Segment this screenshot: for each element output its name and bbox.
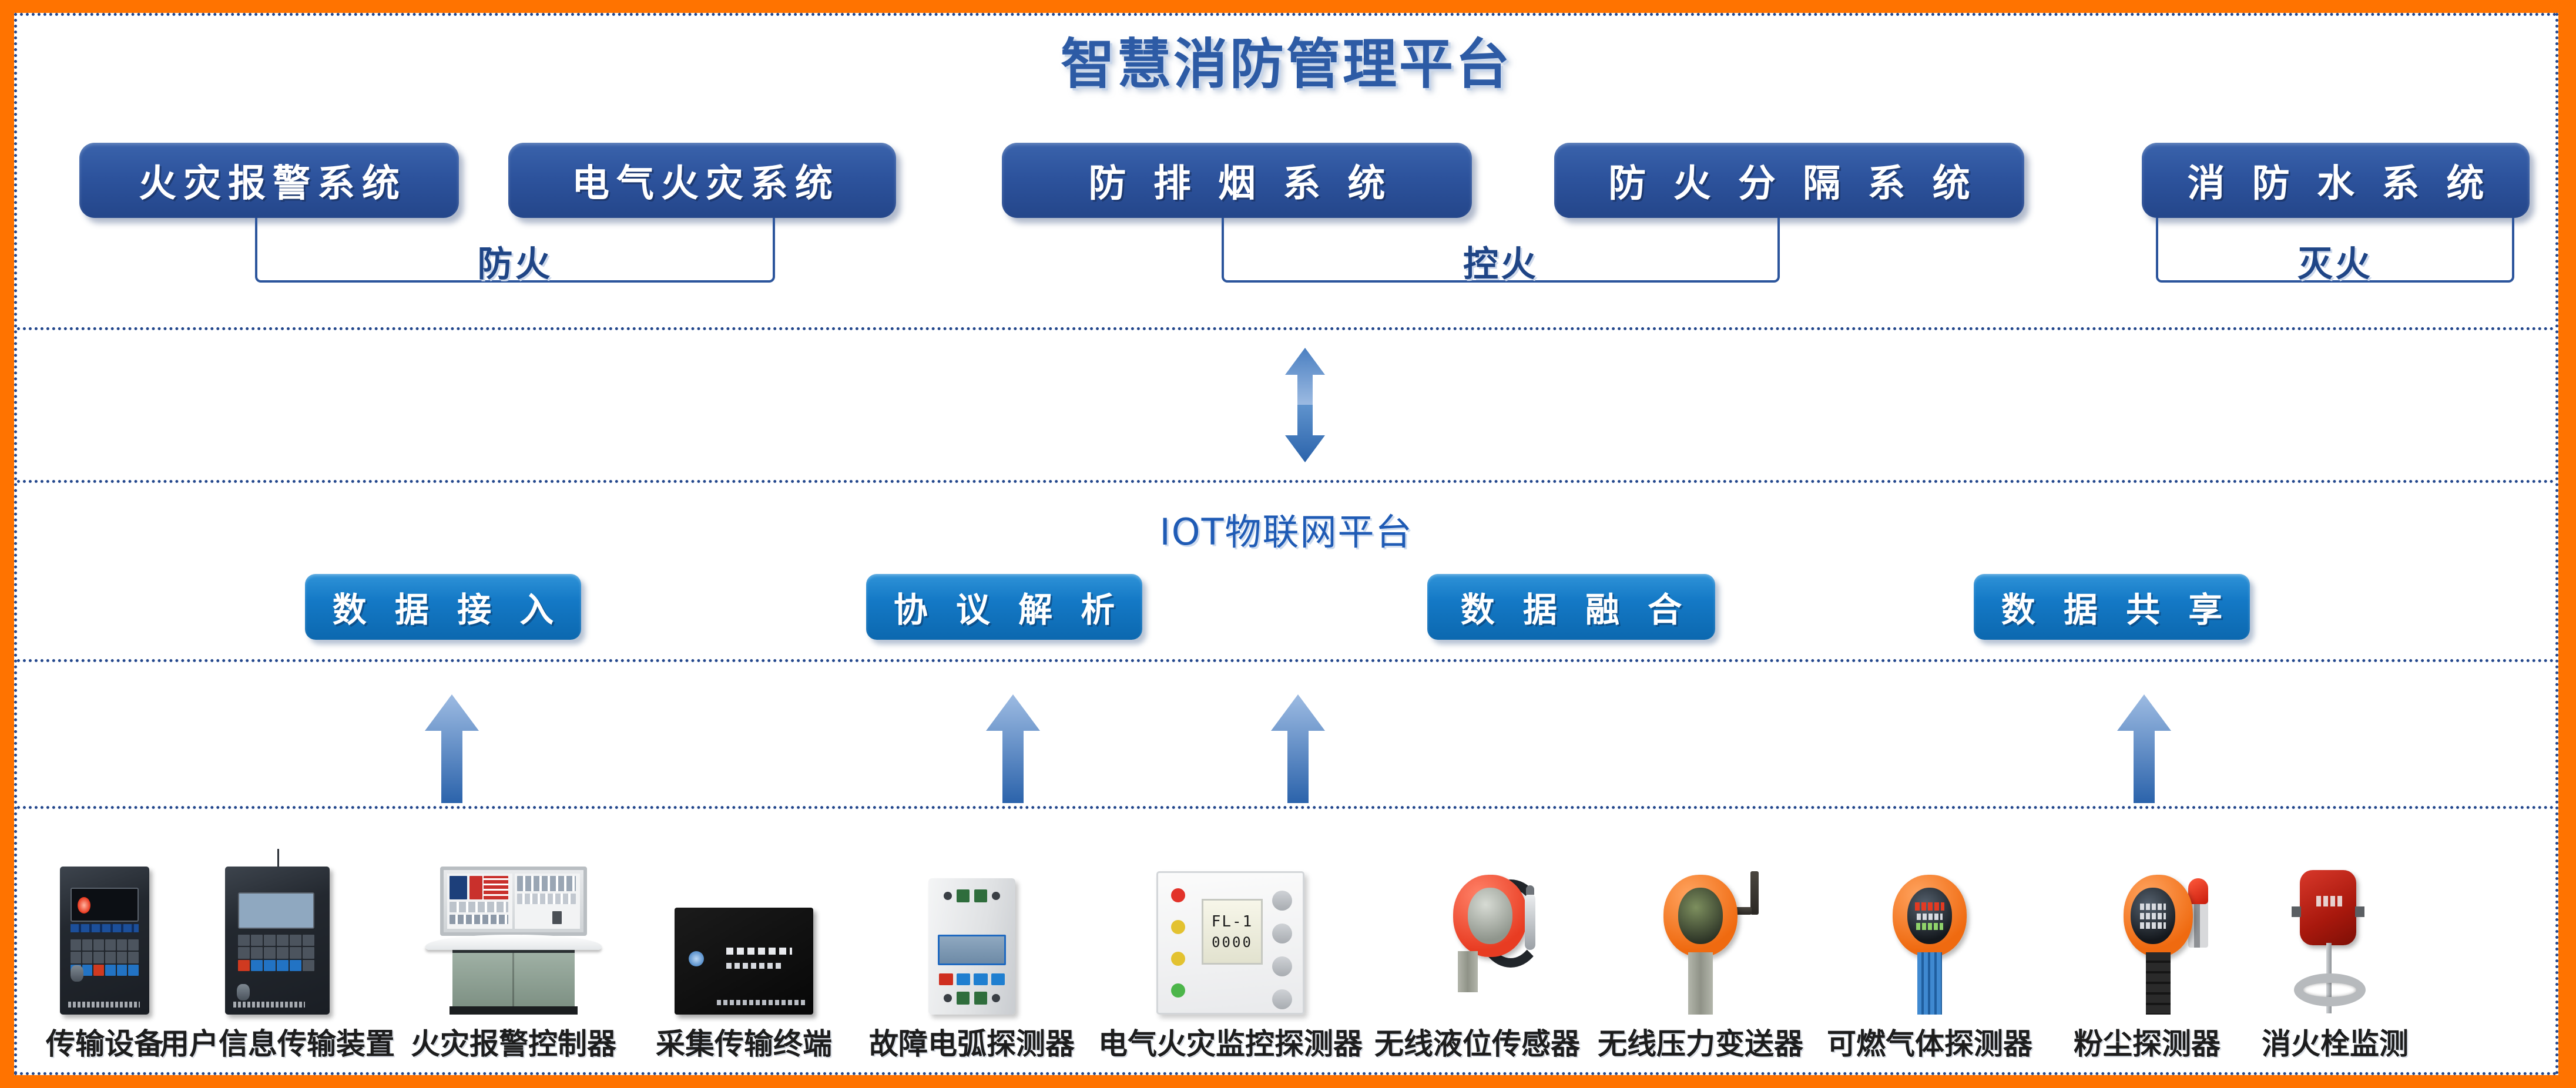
device-item[interactable]: 消火栓监测 [2256, 810, 2414, 1063]
system-box-label: 电气火灾系统 [565, 153, 840, 207]
device-item[interactable]: 粉尘探测器 [2062, 810, 2232, 1063]
band-separator-2 [17, 480, 2555, 483]
detector-screen-line1: FL-1 [1212, 913, 1253, 931]
combustible-gas-detector-icon [1833, 855, 2027, 1015]
device-label: 无线压力变送器 [1598, 1020, 1803, 1063]
dust-detector-icon [2062, 855, 2232, 1015]
group-label: 控火 [1224, 236, 1777, 287]
device-item[interactable]: 采集传输终端 [647, 810, 841, 1063]
electrical-fire-monitoring-detector-icon: FL-1 0000 [1104, 855, 1357, 1015]
band-separator-3 [17, 659, 2555, 662]
device-label: 故障电弧探测器 [869, 1020, 1075, 1063]
group-label: 灭火 [2158, 236, 2512, 287]
device-label: 电气火灾监控探测器 [1098, 1020, 1363, 1063]
fire-alarm-controller-icon [417, 855, 611, 1015]
group-bracket-fire-control: 控火 [1222, 218, 1780, 283]
device-label: 用户信息传输装置 [160, 1020, 395, 1063]
system-box-fire-water[interactable]: 消 防 水 系 统 [2142, 143, 2530, 218]
group-bracket-fire-prevention: 防火 [255, 218, 775, 283]
poster-inner: 智慧消防管理平台 火灾报警系统 电气火灾系统 防 排 烟 系 统 防 火 分 隔… [14, 13, 2558, 1075]
up-arrow-icon [1269, 694, 1327, 803]
iot-function-data-sharing[interactable]: 数 据 共 享 [1974, 574, 2250, 640]
device-item[interactable]: 火灾报警控制器 [417, 810, 611, 1063]
band-separator-4 [17, 806, 2555, 809]
detector-screen-line2: 0000 [1212, 934, 1253, 951]
iot-function-data-access[interactable]: 数 据 接 入 [305, 574, 581, 640]
iot-function-protocol-parsing[interactable]: 协 议 解 析 [866, 574, 1142, 640]
device-label: 无线液位传感器 [1374, 1020, 1580, 1063]
group-bracket-fire-extinguish: 灭火 [2156, 218, 2514, 283]
device-label: 消火栓监测 [2262, 1020, 2409, 1063]
device-strip: 传输设备 用户 [17, 810, 2555, 1063]
device-item[interactable]: FL-1 0000 电气火灾监控探测器 [1104, 810, 1357, 1063]
iot-function-label: 数 据 接 入 [324, 582, 562, 632]
system-box-fire-partition[interactable]: 防 火 分 隔 系 统 [1554, 143, 2024, 218]
system-box-smoke-exhaust[interactable]: 防 排 烟 系 统 [1002, 143, 1472, 218]
device-item[interactable]: 可燃气体探测器 [1833, 810, 2027, 1063]
system-box-label: 防 火 分 隔 系 统 [1601, 153, 1977, 207]
device-item[interactable]: 无线液位传感器 [1380, 810, 1574, 1063]
iot-function-label: 协 议 解 析 [885, 582, 1123, 632]
device-item[interactable]: 故障电弧探测器 [875, 810, 1069, 1063]
system-box-label: 消 防 水 系 统 [2180, 153, 2491, 207]
fault-arc-detector-icon [875, 855, 1069, 1015]
device-label: 可燃气体探测器 [1827, 1020, 2032, 1063]
wireless-level-sensor-icon [1380, 855, 1574, 1015]
up-arrow-icon [2115, 694, 2173, 803]
hydrant-monitoring-icon [2256, 855, 2414, 1015]
group-label: 防火 [257, 236, 773, 287]
poster-frame: 智慧消防管理平台 火灾报警系统 电气火灾系统 防 排 烟 系 统 防 火 分 隔… [0, 0, 2576, 1088]
page-title: 智慧消防管理平台 [17, 21, 2555, 99]
iot-function-label: 数 据 融 合 [1453, 582, 1690, 632]
transmission-equipment-icon [25, 855, 184, 1015]
device-label: 采集传输终端 [656, 1020, 832, 1063]
device-label: 传输设备 [46, 1020, 163, 1063]
collection-transmission-terminal-icon [647, 855, 841, 1015]
system-box-label: 火灾报警系统 [132, 153, 407, 207]
user-info-transmission-device-icon [186, 855, 368, 1015]
iot-function-label: 数 据 共 享 [1993, 582, 2231, 632]
device-item[interactable]: 无线压力变送器 [1604, 810, 1797, 1063]
iot-function-data-fusion[interactable]: 数 据 融 合 [1427, 574, 1715, 640]
double-arrow-vertical-icon [1282, 348, 1329, 462]
device-label: 火灾报警控制器 [411, 1020, 616, 1063]
system-box-electrical-fire[interactable]: 电气火灾系统 [508, 143, 896, 218]
iot-platform-label: IOT物联网平台 [17, 502, 2555, 555]
device-item[interactable]: 用户信息传输装置 [186, 810, 368, 1063]
system-box-fire-alarm[interactable]: 火灾报警系统 [79, 143, 459, 218]
up-arrow-icon [984, 694, 1042, 803]
band-separator-1 [17, 327, 2555, 330]
wireless-pressure-transmitter-icon [1604, 855, 1797, 1015]
system-box-label: 防 排 烟 系 统 [1081, 153, 1392, 207]
device-label: 粉尘探测器 [2074, 1020, 2221, 1063]
up-arrow-icon [422, 694, 481, 803]
